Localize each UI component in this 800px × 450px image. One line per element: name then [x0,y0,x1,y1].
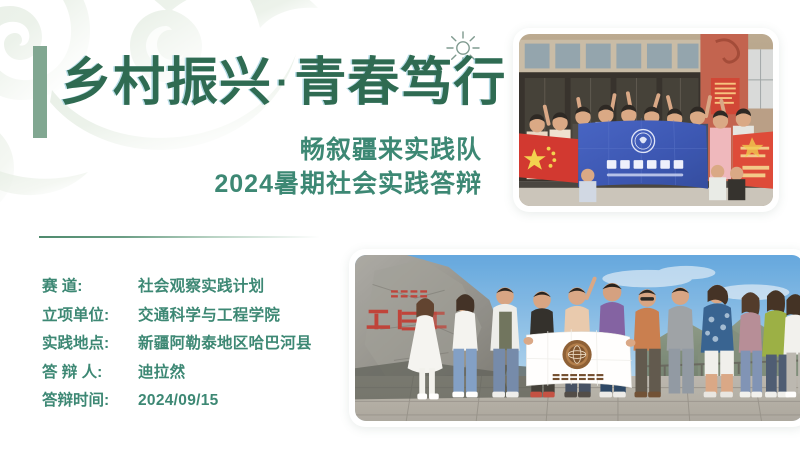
info-value: 交通科学与工程学院 [138,303,280,325]
info-label: 答 辩 人: [42,360,138,382]
list-item: 立项单位: 交通科学与工程学院 [42,303,362,325]
presentation-slide: 乡村振兴·青春笃行 畅叙疆来实践队 2024暑期社会实践答辩 赛 道: 社会观察… [0,0,800,450]
subtitle-event: 2024暑期社会实践答辩 [0,168,482,202]
info-label: 答辩时间: [42,388,138,410]
list-item: 赛 道: 社会观察实践计划 [42,274,362,296]
group-photo-mountain [349,249,800,427]
info-value: 新疆阿勒泰地区哈巴河县 [138,331,312,353]
list-item: 答 辩 人: 迪拉然 [42,360,362,382]
subtitle-team: 畅叙疆来实践队 [0,134,482,168]
list-item: 答辩时间: 2024/09/15 [42,388,362,410]
page-title: 乡村振兴·青春笃行 [60,57,506,109]
photo-image-mountain [355,255,800,421]
group-photo-campus [513,28,779,212]
title-second-part: 青春笃行 [294,54,506,112]
info-label: 实践地点: [42,331,138,353]
divider-line [39,236,320,238]
photo-image-campus [519,34,773,206]
info-list: 赛 道: 社会观察实践计划 立项单位: 交通科学与工程学院 实践地点: 新疆阿勒… [42,274,362,417]
info-value: 2024/09/15 [138,392,219,410]
info-label: 赛 道: [42,274,138,296]
info-value: 迪拉然 [138,360,185,382]
list-item: 实践地点: 新疆阿勒泰地区哈巴河县 [42,331,362,353]
info-label: 立项单位: [42,303,138,325]
title-accent-bar [33,46,47,138]
subtitle-block: 畅叙疆来实践队 2024暑期社会实践答辩 [0,134,482,202]
info-value: 社会观察实践计划 [138,274,264,296]
title-separator-dot: · [272,61,294,105]
title-main-part: 乡村振兴 [60,54,272,112]
